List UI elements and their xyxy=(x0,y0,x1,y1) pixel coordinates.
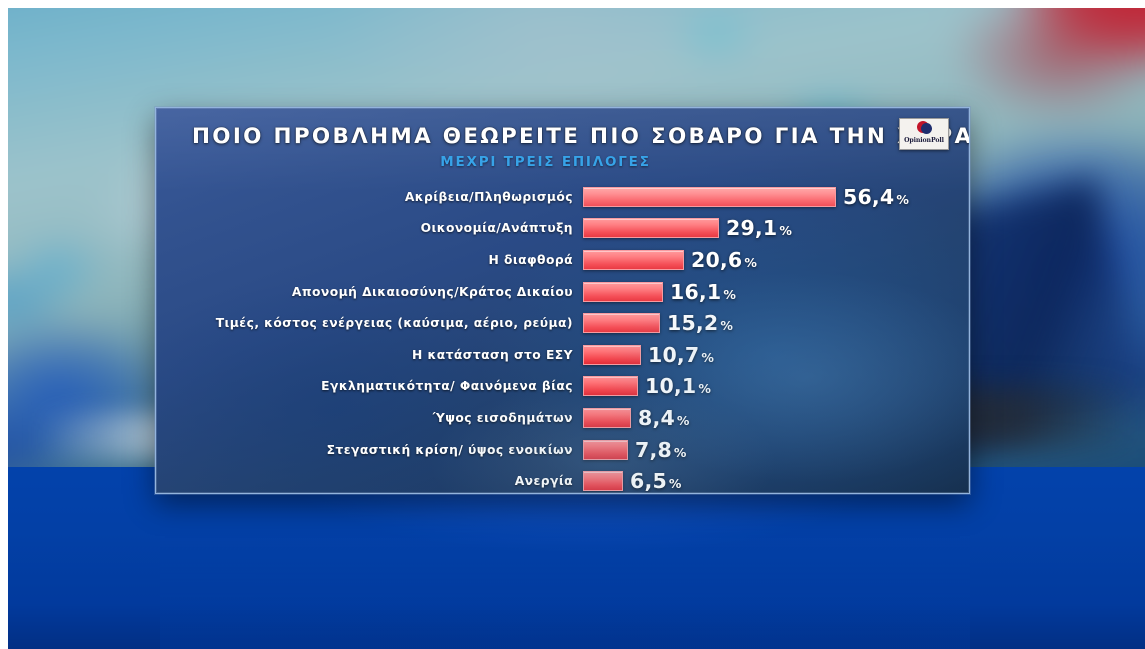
chart-value-label: 16,1% xyxy=(670,280,736,304)
chart-bar xyxy=(583,282,663,302)
percent-sign: % xyxy=(779,223,792,238)
chart-value-number: 16,1 xyxy=(670,280,721,304)
chart-bar-wrapper: 29,1% xyxy=(583,216,969,240)
bar-chart: Ακρίβεια/Πληθωρισμός56,4%Οικονομία/Ανάπτ… xyxy=(156,181,969,494)
chart-row-label: Απονομή Δικαιοσύνης/Κράτος Δικαίου xyxy=(156,285,583,299)
chart-row: Εγκληματικότητα/ Φαινόμενα βίας10,1% xyxy=(156,371,969,403)
percent-sign: % xyxy=(698,381,711,396)
percent-sign: % xyxy=(669,476,682,491)
chart-value-label: 7,8% xyxy=(635,438,687,462)
chart-bar-wrapper: 15,2% xyxy=(583,311,969,335)
chart-bar xyxy=(583,345,641,365)
chart-row-label: Εγκληματικότητα/ Φαινόμενα βίας xyxy=(156,379,583,393)
chart-row-label: Ανεργία xyxy=(156,474,583,488)
chart-bar-wrapper: 56,4% xyxy=(583,185,969,209)
chart-row-label: Τιμές, κόστος ενέργειας (καύσιμα, αέριο,… xyxy=(156,316,583,330)
chart-value-label: 10,7% xyxy=(648,343,714,367)
chart-value-label: 10,1% xyxy=(645,374,711,398)
chart-value-number: 56,4 xyxy=(843,185,894,209)
chart-bar-wrapper: 7,8% xyxy=(583,438,969,462)
chart-value-label: 20,6% xyxy=(691,248,757,272)
chart-value-number: 8,4 xyxy=(638,406,675,430)
chart-row: Ανεργία6,5% xyxy=(156,465,969,494)
chart-row-label: Οικονομία/Ανάπτυξη xyxy=(156,221,583,235)
chart-bar-wrapper: 10,1% xyxy=(583,374,969,398)
chart-row-label: Η διαφθορά xyxy=(156,253,583,267)
chart-row-label: Η κατάσταση στο ΕΣΥ xyxy=(156,348,583,362)
chart-bar-wrapper: 10,7% xyxy=(583,343,969,367)
chart-value-number: 15,2 xyxy=(667,311,718,335)
chart-row: Στεγαστική κρίση/ ύψος ενοικίων7,8% xyxy=(156,434,969,466)
chart-value-number: 29,1 xyxy=(726,216,777,240)
screenshot-stage: Ανεργία6,5%Στεγαστική κρίση/ ύψος ενοικί… xyxy=(0,0,1145,649)
chart-row: Τιμές, κόστος ενέργειας (καύσιμα, αέριο,… xyxy=(156,307,969,339)
chart-bar-wrapper: 8,4% xyxy=(583,406,969,430)
chart-row-label: Ύψος εισοδημάτων xyxy=(156,411,583,425)
chart-value-number: 7,8 xyxy=(635,438,672,462)
chart-row: Η διαφθορά20,6% xyxy=(156,244,969,276)
logo-blue-dot-icon xyxy=(921,123,932,134)
logo-circles-icon xyxy=(916,121,933,136)
chart-panel: ΠΟΙΟ ΠΡΟΒΛΗΜΑ ΘΕΩΡΕΙΤΕ ΠΙΟ ΣΟΒΑΡΟ ΓΙΑ ΤΗ… xyxy=(155,107,970,494)
chart-row: Οικονομία/Ανάπτυξη29,1% xyxy=(156,213,969,245)
chart-row-label: Ακρίβεια/Πληθωρισμός xyxy=(156,190,583,204)
chart-bar xyxy=(583,218,719,238)
chart-row: Η κατάσταση στο ΕΣΥ10,7% xyxy=(156,339,969,371)
chart-row: Ύψος εισοδημάτων8,4% xyxy=(156,402,969,434)
chart-bar-wrapper: 16,1% xyxy=(583,280,969,304)
chart-bar xyxy=(583,376,638,396)
chart-value-number: 10,7 xyxy=(648,343,699,367)
page-title: ΠΟΙΟ ΠΡΟΒΛΗΜΑ ΘΕΩΡΕΙΤΕ ΠΙΟ ΣΟΒΑΡΟ ΓΙΑ ΤΗ… xyxy=(156,124,969,149)
reflection-fade-overlay xyxy=(160,500,970,649)
percent-sign: % xyxy=(720,318,733,333)
percent-sign: % xyxy=(677,413,690,428)
chart-bar-wrapper: 20,6% xyxy=(583,248,969,272)
percent-sign: % xyxy=(723,287,736,302)
logo-text: OpinionPoll xyxy=(904,137,944,144)
chart-value-label: 6,5% xyxy=(630,469,682,493)
percent-sign: % xyxy=(896,192,909,207)
page-subtitle: ΜΕΧΡΙ ΤΡΕΙΣ ΕΠΙΛΟΓΕΣ xyxy=(156,154,969,170)
chart-value-number: 10,1 xyxy=(645,374,696,398)
percent-sign: % xyxy=(744,255,757,270)
chart-value-label: 8,4% xyxy=(638,406,690,430)
chart-bar xyxy=(583,250,684,270)
panel-header: ΠΟΙΟ ΠΡΟΒΛΗΜΑ ΘΕΩΡΕΙΤΕ ΠΙΟ ΣΟΒΑΡΟ ΓΙΑ ΤΗ… xyxy=(156,108,969,170)
chart-bar xyxy=(583,187,836,207)
chart-bar xyxy=(583,313,660,333)
chart-value-label: 29,1% xyxy=(726,216,792,240)
percent-sign: % xyxy=(674,445,687,460)
chart-value-number: 6,5 xyxy=(630,469,667,493)
chart-bar xyxy=(583,408,631,428)
chart-value-label: 56,4% xyxy=(843,185,909,209)
panel-reflection: Ανεργία6,5%Στεγαστική κρίση/ ύψος ενοικί… xyxy=(160,500,970,649)
chart-bar xyxy=(583,440,628,460)
chart-bar xyxy=(583,471,623,491)
chart-bar-wrapper: 6,5% xyxy=(583,469,969,493)
percent-sign: % xyxy=(701,350,714,365)
chart-value-number: 20,6 xyxy=(691,248,742,272)
chart-row: Ακρίβεια/Πληθωρισμός56,4% xyxy=(156,181,969,213)
chart-value-label: 15,2% xyxy=(667,311,733,335)
chart-row-label: Στεγαστική κρίση/ ύψος ενοικίων xyxy=(156,443,583,457)
opinionpoll-logo: OpinionPoll xyxy=(899,118,949,150)
chart-row: Απονομή Δικαιοσύνης/Κράτος Δικαίου16,1% xyxy=(156,276,969,308)
